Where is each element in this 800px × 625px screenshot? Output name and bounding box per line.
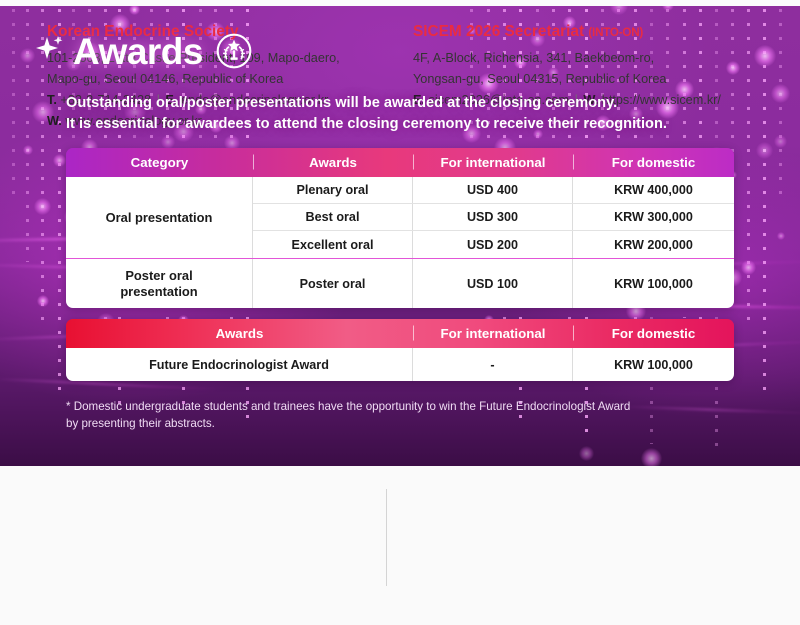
poster-subrows: Poster oral USD 100 KRW 100,000 [253,259,734,308]
bokeh-dot [20,48,35,63]
society-address-line-2: Mapo-gu, Seoul 04146, Republic of Korea [47,69,377,90]
table-row: Best oral USD 300 KRW 300,000 [253,204,734,231]
column-header-international: For international [413,156,573,169]
cell-domestic: KRW 100,000 [573,348,734,381]
secretariat-name: SICEM 2026 Secretariat (INTO-ON) [413,24,773,39]
cell-international: USD 100 [413,259,573,308]
cell-award: Future Endocrinologist Award [66,348,413,381]
future-award-table: Awards For international For domestic Fu… [66,319,734,381]
footer-divider [386,489,387,586]
footnote-line-1: * Domestic undergraduate students and tr… [66,398,756,415]
footnote: * Domestic undergraduate students and tr… [66,398,756,432]
footer [0,466,800,625]
cell-international: USD 300 [413,204,573,230]
future-award-header-row: Awards For international For domestic [66,319,734,348]
bokeh-dot [610,5,628,15]
awards-table: Category Awards For international For do… [66,148,734,308]
column-header-domestic: For domestic [573,156,734,169]
awards-table-header-row: Category Awards For international For do… [66,148,734,177]
awards-table-body: Oral presentation Plenary oral USD 400 K… [66,177,734,308]
cell-international: USD 200 [413,231,573,258]
society-web-label: W. [47,114,62,128]
footnote-line-2: by presenting their abstracts. [66,415,756,432]
bokeh-dot [641,448,662,466]
bokeh-dot [161,135,175,149]
secretariat-address-line-2: Yongsan-gu, Seoul 04315, Republic of Kor… [413,69,773,90]
light-string [779,5,782,200]
intro-text: Outstanding oral/poster presentations wi… [66,93,667,135]
table-row: Excellent oral USD 200 KRW 200,000 [253,231,734,258]
table-row: Future Endocrinologist Award - KRW 100,0… [66,348,734,381]
bokeh-dot [53,154,66,167]
awards-page: Awards Outstanding oral/poster presentat… [0,0,800,625]
category-cell-oral: Oral presentation [66,177,253,258]
trophy-wreath-icon [212,31,254,71]
light-string [26,5,29,262]
bokeh-dot [771,84,790,103]
table-row-group-poster: Poster oral presentation Poster oral USD… [66,259,734,308]
cell-award: Plenary oral [253,177,413,203]
cell-award: Excellent oral [253,231,413,258]
top-white-strip [0,0,800,6]
column-header-domestic: For domestic [573,327,734,340]
column-header-awards: Awards [253,156,413,169]
bokeh-dot [579,446,594,461]
bokeh-dot [756,142,773,159]
table-row: Poster oral USD 100 KRW 100,000 [253,259,734,308]
cell-domestic: KRW 200,000 [573,231,734,258]
secretariat-name-main: SICEM 2026 Secretariat [413,23,584,40]
bokeh-dot [37,295,49,307]
column-header-awards: Awards [66,327,413,340]
secretariat-address-line-1: 4F, A-Block, Richensia, 341, Baekbeom-ro… [413,48,773,69]
bokeh-dot [23,145,33,155]
column-header-international: For international [413,327,573,340]
oral-subrows: Plenary oral USD 400 KRW 400,000 Best or… [253,177,734,258]
category-cell-poster: Poster oral presentation [66,259,253,308]
cell-award: Poster oral [253,259,413,308]
cell-award: Best oral [253,204,413,230]
cell-domestic: KRW 400,000 [573,177,734,203]
page-title: Awards [73,33,203,70]
table-row-group-oral: Oral presentation Plenary oral USD 400 K… [66,177,734,258]
future-award-body: Future Endocrinologist Award - KRW 100,0… [66,348,734,381]
cell-domestic: KRW 300,000 [573,204,734,230]
intro-line-2: It is essential for awardees to attend t… [66,114,667,135]
awards-heading: Awards [34,31,254,71]
cell-international: - [413,348,573,381]
column-header-category: Category [66,156,253,169]
table-row: Plenary oral USD 400 KRW 400,000 [253,177,734,204]
secretariat-name-suffix: (INTO-ON) [588,26,643,39]
bokeh-dot [774,135,787,148]
category-line-1: Poster oral [120,268,197,284]
bokeh-dot [129,5,140,15]
society-tel-label: T. [47,93,57,107]
intro-line-1: Outstanding oral/poster presentations wi… [66,93,667,114]
cell-international: USD 400 [413,177,573,203]
bokeh-dot [34,198,51,215]
sparkle-icon [34,35,64,67]
light-string [12,5,15,195]
cell-domestic: KRW 100,000 [573,259,734,308]
category-line-2: presentation [120,284,197,300]
bokeh-dot [777,232,785,240]
bokeh-dot [741,260,756,275]
